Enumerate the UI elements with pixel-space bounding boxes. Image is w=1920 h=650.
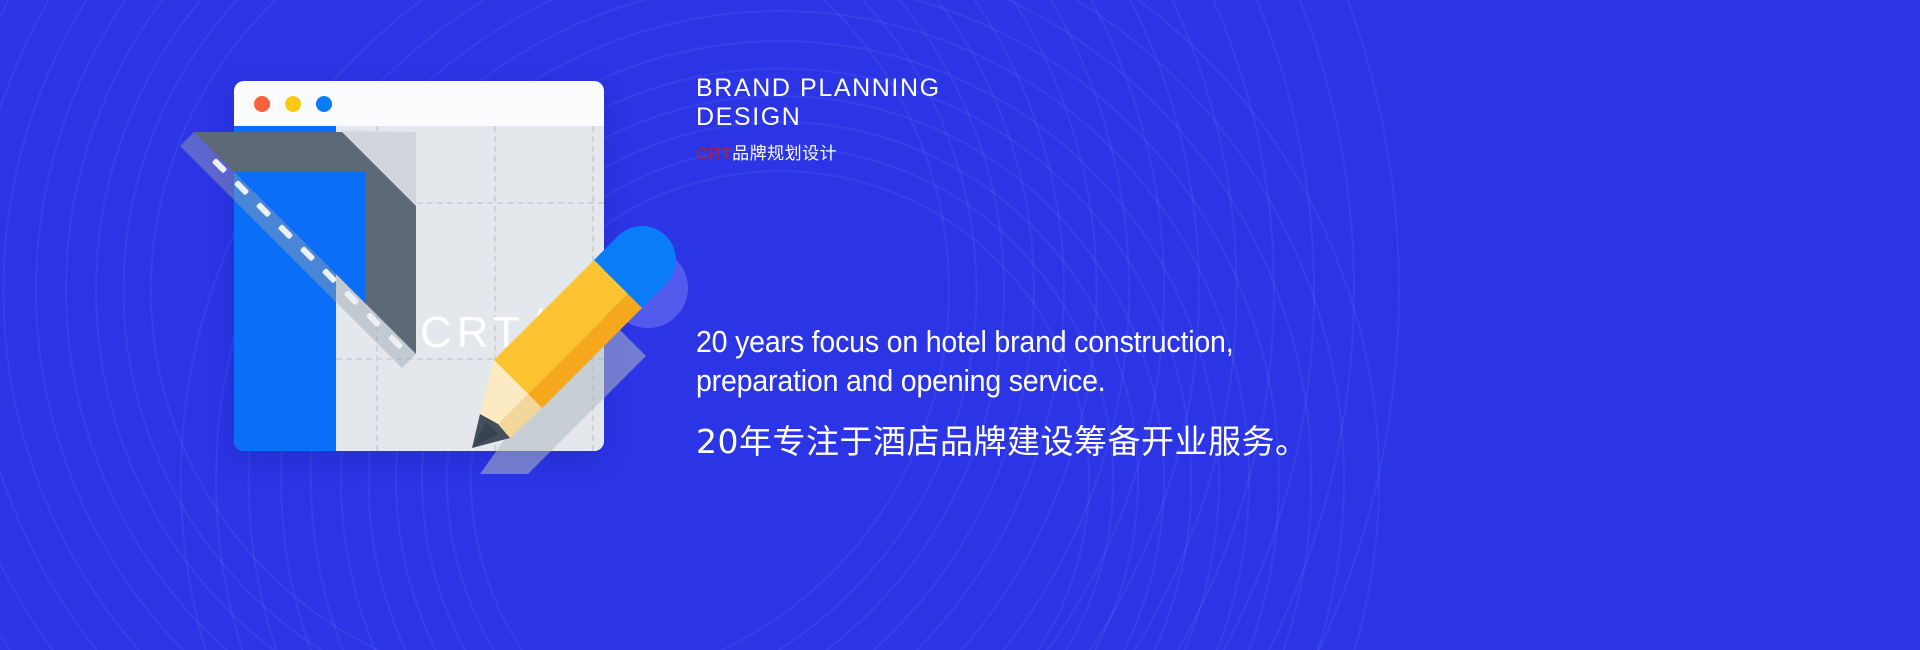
browser-titlebar [234, 81, 604, 126]
brand-banner: CRT [0, 0, 1920, 650]
minimize-dot-icon [285, 96, 301, 112]
brand-illustration: CRT [188, 78, 688, 478]
maximize-dot-icon [316, 96, 332, 112]
eyebrow-line-2: DESIGN [696, 103, 1256, 132]
eyebrow-line-1: BRAND PLANNING [696, 74, 1256, 103]
text-column: BRAND PLANNING DESIGN CRT品牌规划设计 20 years… [696, 0, 1796, 650]
headline-english-line-1: 20 years focus on hotel brand constructi… [696, 322, 1340, 361]
eyebrow-crt-prefix: CRT [696, 144, 732, 163]
headline-chinese: 20年专注于酒店品牌建设筹备开业服务。 [696, 422, 1396, 462]
triangle-ruler-icon [188, 126, 433, 374]
close-dot-icon [254, 96, 270, 112]
pencil-icon [470, 226, 690, 476]
eyebrow-block: BRAND PLANNING DESIGN CRT品牌规划设计 [696, 74, 1256, 164]
headline-block: 20 years focus on hotel brand constructi… [696, 322, 1396, 462]
headline-english-line-2: preparation and opening service. [696, 361, 1340, 400]
eyebrow-chinese: CRT品牌规划设计 [696, 139, 1256, 164]
eyebrow-chinese-text: 品牌规划设计 [732, 144, 837, 164]
